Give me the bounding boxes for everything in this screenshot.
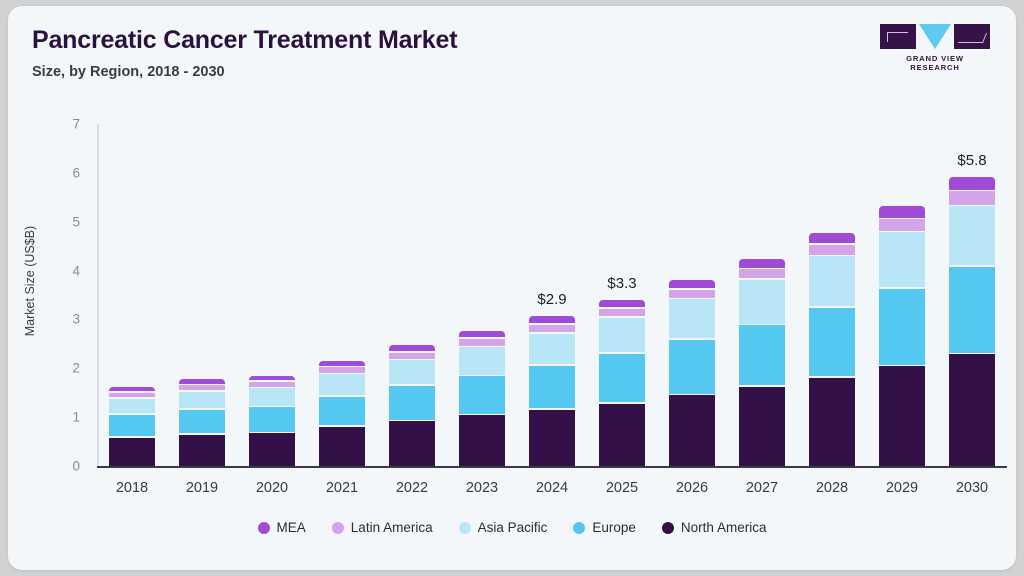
bar-group-2028[interactable] (809, 233, 855, 466)
x-axis-tick-label: 2021 (326, 480, 358, 496)
legend-color-dot-icon (258, 522, 270, 534)
bar-group-2023[interactable] (459, 331, 505, 466)
legend-item-latin-america[interactable]: Latin America (332, 520, 433, 535)
bar-segment[interactable] (599, 309, 645, 317)
y-axis-tick-label: 2 (60, 361, 80, 376)
bar-segment[interactable] (389, 360, 435, 384)
bar-segment[interactable] (459, 339, 505, 346)
y-axis-title: Market Size (US$B) (23, 131, 37, 431)
legend-item-asia-pacific[interactable]: Asia Pacific (459, 520, 548, 535)
bar-segment[interactable] (529, 325, 575, 332)
bar-segment[interactable] (249, 382, 295, 387)
bar-segment[interactable] (809, 378, 855, 466)
bar-group-2026[interactable] (669, 280, 715, 466)
bar-segment[interactable] (669, 280, 715, 288)
bar-segment[interactable] (669, 340, 715, 394)
x-axis-tick-label: 2029 (886, 480, 918, 496)
bar-segment[interactable] (389, 421, 435, 466)
bar-group-2020[interactable] (249, 376, 295, 466)
y-axis-tick-label: 1 (60, 410, 80, 425)
bar-segment[interactable] (879, 289, 925, 365)
bar-group-2024[interactable] (529, 316, 575, 466)
bar-segment[interactable] (459, 415, 505, 466)
legend-label: Europe (592, 520, 636, 535)
bar-segment[interactable] (739, 269, 785, 278)
bar-group-2022[interactable] (389, 345, 435, 466)
bar-segment[interactable] (739, 280, 785, 324)
bar-segment[interactable] (809, 245, 855, 255)
y-axis-tick-label: 6 (60, 165, 80, 180)
bar-segment[interactable] (109, 415, 155, 436)
bar-segment[interactable] (949, 191, 995, 204)
bar-value-label: $3.3 (607, 275, 636, 292)
bar-segment[interactable] (599, 300, 645, 307)
bar-segment[interactable] (879, 366, 925, 466)
bar-segment[interactable] (879, 219, 925, 231)
bar-segment[interactable] (459, 376, 505, 414)
x-axis-tick-label: 2019 (186, 480, 218, 496)
y-axis-tick-label: 3 (60, 312, 80, 327)
bar-segment[interactable] (109, 393, 155, 397)
bar-segment[interactable] (949, 354, 995, 466)
bar-segment[interactable] (319, 374, 365, 395)
legend-label: Latin America (351, 520, 433, 535)
x-axis-line (97, 466, 1007, 468)
bar-segment[interactable] (809, 233, 855, 243)
bar-segment[interactable] (529, 410, 575, 466)
bar-segment[interactable] (949, 177, 995, 190)
bar-segment[interactable] (249, 407, 295, 431)
bar-value-label: $5.8 (957, 152, 986, 169)
bar-segment[interactable] (949, 267, 995, 353)
x-axis-tick-label: 2030 (956, 480, 988, 496)
bar-segment[interactable] (389, 345, 435, 351)
bar-segment[interactable] (459, 347, 505, 374)
bar-series-container: $2.9$3.3$5.8 (97, 116, 1007, 466)
bar-segment[interactable] (249, 376, 295, 380)
chart-legend: MEALatin AmericaAsia PacificEuropeNorth … (8, 520, 1016, 535)
legend-label: MEA (277, 520, 306, 535)
legend-item-north-america[interactable]: North America (662, 520, 767, 535)
bar-segment[interactable] (179, 385, 225, 390)
chart-plot-area: Market Size (US$B) 01234567 $2.9$3.3$5.8… (8, 6, 1016, 570)
bar-segment[interactable] (179, 435, 225, 466)
bar-segment[interactable] (599, 318, 645, 352)
bar-segment[interactable] (739, 325, 785, 385)
y-axis-tick-label: 5 (60, 214, 80, 229)
x-axis-tick-label: 2020 (256, 480, 288, 496)
bar-segment[interactable] (739, 259, 785, 268)
chart-card: Pancreatic Cancer Treatment Market Size,… (8, 6, 1016, 570)
bar-group-2021[interactable] (319, 361, 365, 466)
bar-segment[interactable] (669, 299, 715, 338)
legend-color-dot-icon (459, 522, 471, 534)
bar-segment[interactable] (389, 386, 435, 420)
bar-segment[interactable] (249, 388, 295, 406)
legend-label: Asia Pacific (478, 520, 548, 535)
x-axis-tick-label: 2024 (536, 480, 568, 496)
legend-color-dot-icon (332, 522, 344, 534)
bar-segment[interactable] (179, 392, 225, 409)
bar-segment[interactable] (529, 334, 575, 365)
bar-segment[interactable] (179, 410, 225, 433)
bar-segment[interactable] (109, 399, 155, 414)
bar-segment[interactable] (669, 290, 715, 298)
legend-color-dot-icon (662, 522, 674, 534)
bar-segment[interactable] (319, 427, 365, 466)
x-axis-tick-label: 2023 (466, 480, 498, 496)
y-axis-tick-label: 4 (60, 263, 80, 278)
bar-segment[interactable] (319, 361, 365, 366)
bar-segment[interactable] (249, 433, 295, 466)
bar-segment[interactable] (949, 206, 995, 265)
x-axis-tick-label: 2028 (816, 480, 848, 496)
bar-segment[interactable] (319, 367, 365, 372)
bar-segment[interactable] (669, 395, 715, 466)
x-axis-tick-label: 2025 (606, 480, 638, 496)
bar-group-2030[interactable] (949, 177, 995, 466)
legend-item-europe[interactable]: Europe (573, 520, 636, 535)
bar-segment[interactable] (809, 308, 855, 376)
y-axis-tick-label: 7 (60, 117, 80, 132)
bar-segment[interactable] (529, 366, 575, 409)
bar-segment[interactable] (179, 379, 225, 383)
legend-label: North America (681, 520, 767, 535)
bar-segment[interactable] (109, 438, 155, 466)
bar-value-label: $2.9 (537, 291, 566, 308)
bar-group-2025[interactable] (599, 300, 645, 466)
bar-segment[interactable] (739, 387, 785, 466)
x-axis-tick-label: 2018 (116, 480, 148, 496)
bar-segment[interactable] (319, 397, 365, 426)
x-axis-tick-label: 2022 (396, 480, 428, 496)
bar-segment[interactable] (879, 232, 925, 287)
bar-segment[interactable] (879, 206, 925, 218)
y-axis-tick-label: 0 (60, 459, 80, 474)
bar-group-2027[interactable] (739, 259, 785, 466)
bar-segment[interactable] (809, 256, 855, 306)
bar-segment[interactable] (599, 404, 645, 466)
x-axis-tick-label: 2026 (676, 480, 708, 496)
bar-segment[interactable] (389, 353, 435, 359)
bar-segment[interactable] (109, 387, 155, 391)
x-axis-tick-label: 2027 (746, 480, 778, 496)
legend-item-mea[interactable]: MEA (258, 520, 306, 535)
bar-group-2018[interactable] (109, 387, 155, 466)
bar-segment[interactable] (459, 331, 505, 337)
bar-group-2019[interactable] (179, 379, 225, 466)
bar-segment[interactable] (599, 354, 645, 403)
bar-group-2029[interactable] (879, 206, 925, 466)
legend-color-dot-icon (573, 522, 585, 534)
bar-segment[interactable] (529, 316, 575, 323)
